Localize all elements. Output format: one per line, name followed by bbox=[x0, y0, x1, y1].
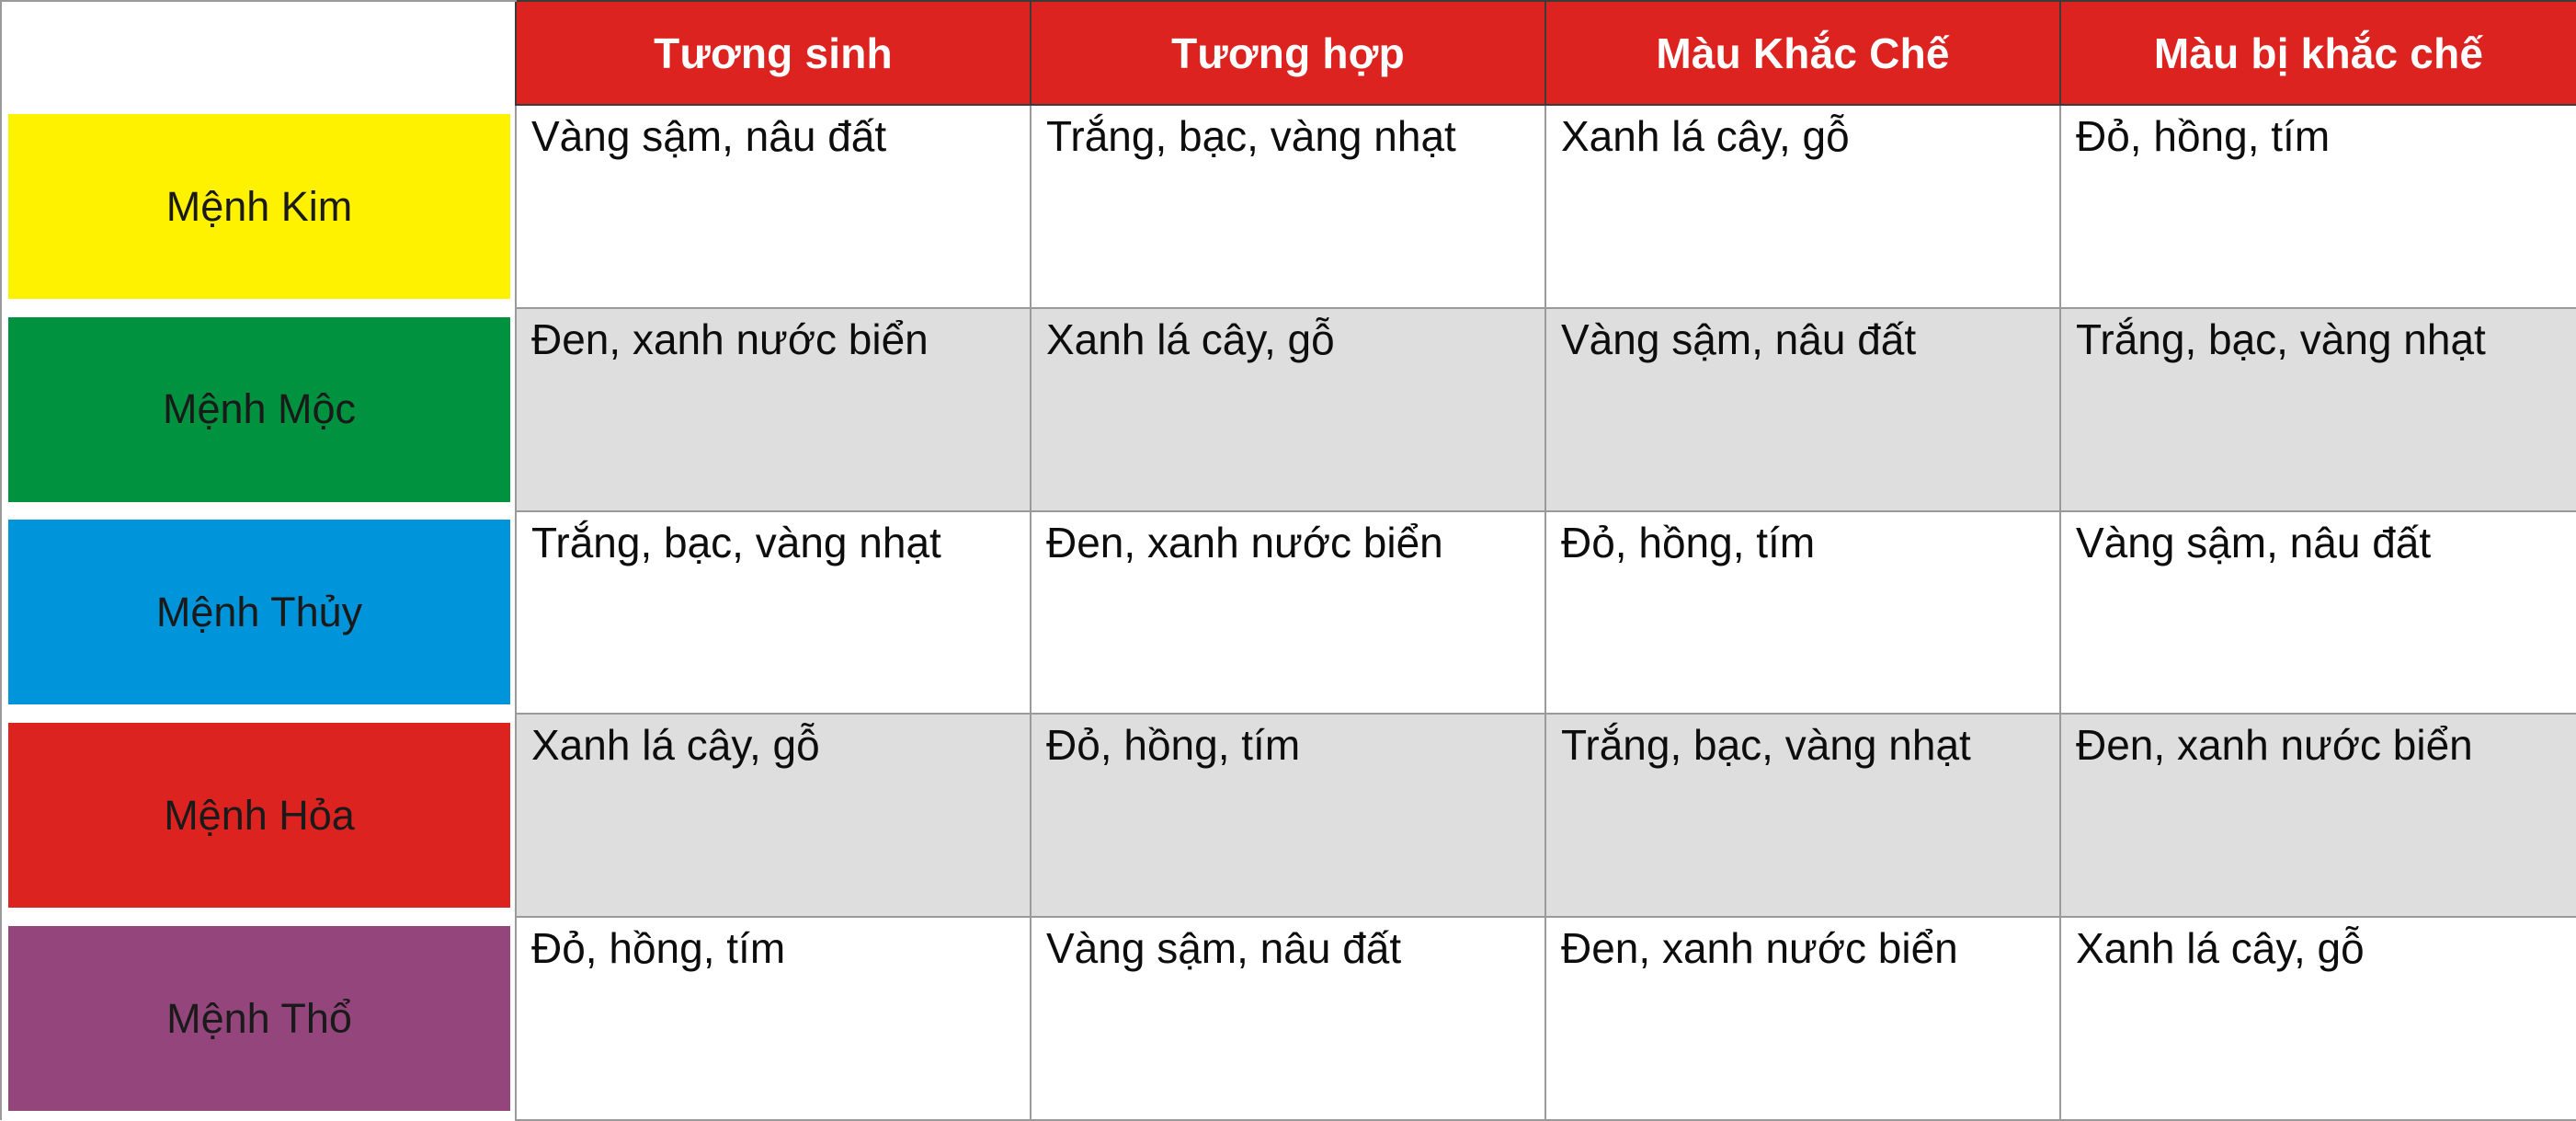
column-header-mau-khac-che: Màu Khắc Chế bbox=[1545, 1, 2060, 105]
color-swatch-menh-moc: Mệnh Mộc bbox=[8, 317, 510, 502]
element-label: Mệnh Mộc bbox=[163, 386, 356, 432]
element-cell-menh-hoa: Mệnh Hỏa bbox=[1, 714, 516, 917]
cell-tuong-hop: Trắng, bạc, vàng nhạt bbox=[1031, 105, 1545, 308]
fengshui-color-compatibility-table: Tương sinh Tương hợp Màu Khắc Chế Màu bị… bbox=[0, 0, 2576, 1121]
element-cell-menh-tho: Mệnh Thổ bbox=[1, 917, 516, 1120]
cell-mau-bi-khac-che: Đen, xanh nước biển bbox=[2060, 714, 2576, 917]
element-label: Mệnh Hỏa bbox=[164, 793, 355, 839]
table-row: Mệnh Hỏa Xanh lá cây, gỗ Đỏ, hồng, tím T… bbox=[1, 714, 2576, 917]
cell-mau-khac-che: Trắng, bạc, vàng nhạt bbox=[1545, 714, 2060, 917]
cell-mau-khac-che: Đỏ, hồng, tím bbox=[1545, 511, 2060, 715]
table-corner-cell bbox=[1, 1, 516, 105]
table-row: Mệnh Thổ Đỏ, hồng, tím Vàng sậm, nâu đất… bbox=[1, 917, 2576, 1120]
fengshui-color-table-sheet: Tương sinh Tương hợp Màu Khắc Chế Màu bị… bbox=[0, 0, 2576, 1119]
table-header-row: Tương sinh Tương hợp Màu Khắc Chế Màu bị… bbox=[1, 1, 2576, 105]
element-cell-menh-kim: Mệnh Kim bbox=[1, 105, 516, 308]
cell-tuong-sinh: Trắng, bạc, vàng nhạt bbox=[516, 511, 1031, 715]
cell-tuong-sinh: Đỏ, hồng, tím bbox=[516, 917, 1031, 1120]
cell-mau-khac-che: Đen, xanh nước biển bbox=[1545, 917, 2060, 1120]
color-swatch-menh-tho: Mệnh Thổ bbox=[8, 926, 510, 1111]
table-row: Mệnh Kim Vàng sậm, nâu đất Trắng, bạc, v… bbox=[1, 105, 2576, 308]
color-swatch-menh-thuy: Mệnh Thủy bbox=[8, 520, 510, 704]
element-cell-menh-moc: Mệnh Mộc bbox=[1, 308, 516, 511]
cell-mau-khac-che: Xanh lá cây, gỗ bbox=[1545, 105, 2060, 308]
cell-mau-bi-khac-che: Trắng, bạc, vàng nhạt bbox=[2060, 308, 2576, 511]
cell-tuong-sinh: Xanh lá cây, gỗ bbox=[516, 714, 1031, 917]
cell-tuong-hop: Vàng sậm, nâu đất bbox=[1031, 917, 1545, 1120]
cell-mau-bi-khac-che: Đỏ, hồng, tím bbox=[2060, 105, 2576, 308]
column-header-tuong-sinh: Tương sinh bbox=[516, 1, 1031, 105]
color-swatch-menh-hoa: Mệnh Hỏa bbox=[8, 723, 510, 908]
cell-tuong-hop: Đỏ, hồng, tím bbox=[1031, 714, 1545, 917]
column-header-mau-bi-khac-che: Màu bị khắc chế bbox=[2060, 1, 2576, 105]
cell-mau-khac-che: Vàng sậm, nâu đất bbox=[1545, 308, 2060, 511]
cell-mau-bi-khac-che: Vàng sậm, nâu đất bbox=[2060, 511, 2576, 715]
cell-mau-bi-khac-che: Xanh lá cây, gỗ bbox=[2060, 917, 2576, 1120]
color-swatch-menh-kim: Mệnh Kim bbox=[8, 114, 510, 299]
column-header-tuong-hop: Tương hợp bbox=[1031, 1, 1545, 105]
cell-tuong-sinh: Vàng sậm, nâu đất bbox=[516, 105, 1031, 308]
cell-tuong-sinh: Đen, xanh nước biển bbox=[516, 308, 1031, 511]
table-body: Mệnh Kim Vàng sậm, nâu đất Trắng, bạc, v… bbox=[1, 105, 2576, 1120]
element-label: Mệnh Kim bbox=[166, 184, 353, 230]
table-row: Mệnh Thủy Trắng, bạc, vàng nhạt Đen, xan… bbox=[1, 511, 2576, 715]
table-row: Mệnh Mộc Đen, xanh nước biển Xanh lá cây… bbox=[1, 308, 2576, 511]
cell-tuong-hop: Đen, xanh nước biển bbox=[1031, 511, 1545, 715]
element-label: Mệnh Thổ bbox=[166, 996, 352, 1042]
cell-tuong-hop: Xanh lá cây, gỗ bbox=[1031, 308, 1545, 511]
element-cell-menh-thuy: Mệnh Thủy bbox=[1, 511, 516, 715]
element-label: Mệnh Thủy bbox=[156, 589, 362, 635]
